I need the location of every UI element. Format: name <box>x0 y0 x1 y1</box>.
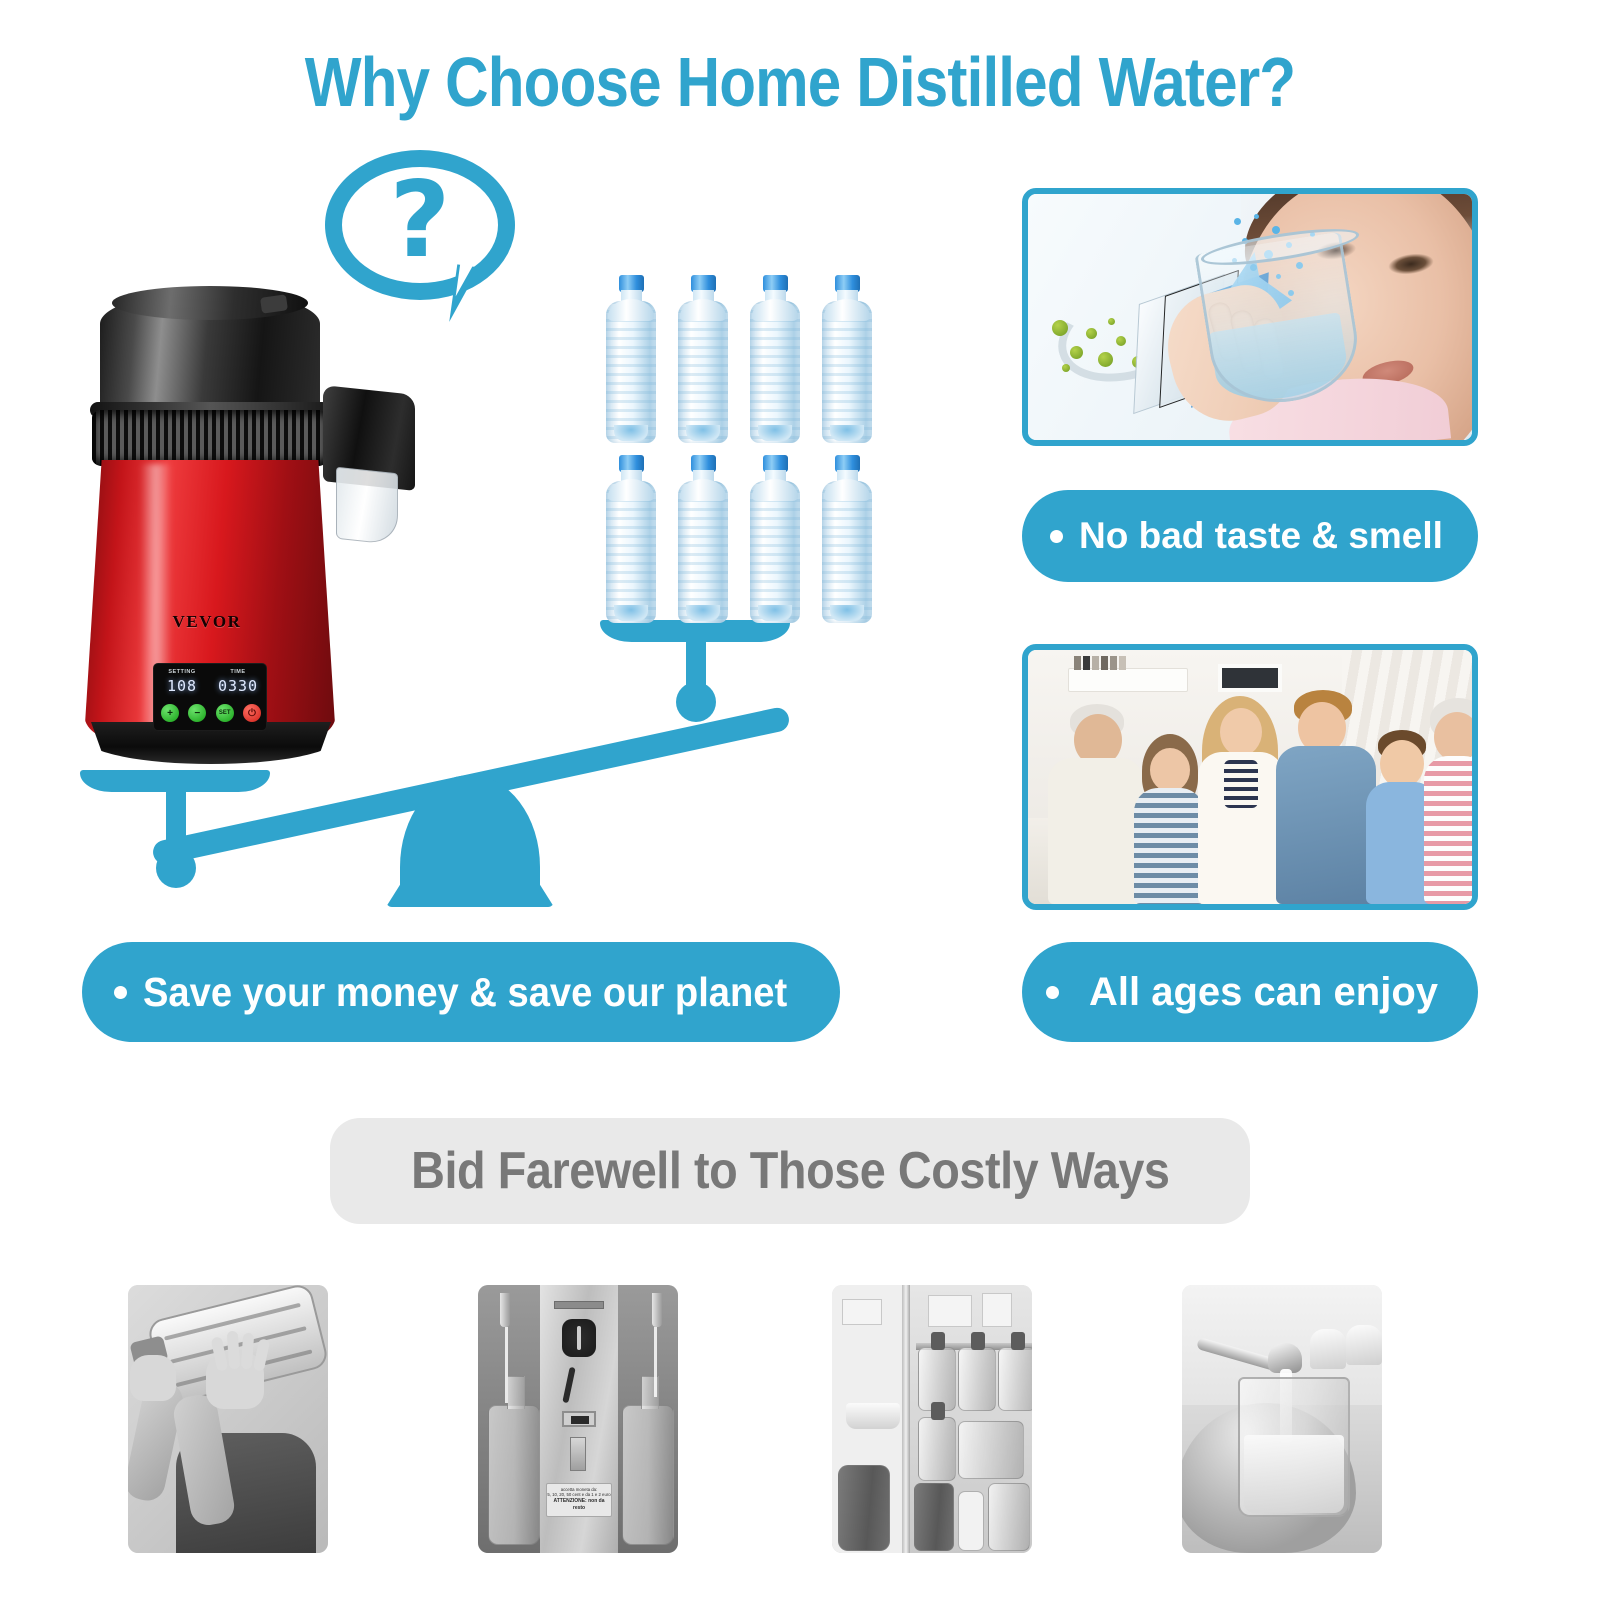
bullet-dot-icon <box>1046 986 1059 999</box>
question-mark-glyph: ? <box>325 168 515 273</box>
benefit-pill-ages: All ages can enjoy <box>1022 942 1478 1042</box>
photo-family-on-sofa <box>1022 644 1478 910</box>
family-member-mother <box>1194 696 1286 904</box>
seesaw-fulcrum-foot <box>386 875 554 907</box>
bottle-row-top <box>600 275 880 445</box>
water-bottle <box>816 455 878 623</box>
water-bottle <box>672 275 734 443</box>
family-member-grandfather <box>1048 704 1144 904</box>
family-member-father <box>1276 690 1376 904</box>
distiller-vent-grille <box>92 410 328 466</box>
bottle-row-bottom <box>600 455 880 625</box>
water-bottle <box>600 275 662 443</box>
bullet-dot-icon <box>114 986 127 999</box>
seesaw-right-knob <box>676 682 716 722</box>
costly-ways-gallery: accetta moneta da: 5, 10, 20, 50 cent e … <box>0 1285 1600 1555</box>
bullet-dot-icon <box>1050 530 1063 543</box>
page-title: Why Choose Home Distilled Water? <box>112 42 1488 122</box>
seesaw-left-pan <box>80 770 270 792</box>
water-bottle <box>600 455 662 623</box>
costly-ways-banner-text: Bid Farewell to Those Costly Ways <box>411 1141 1169 1201</box>
balance-seesaw-icon <box>80 620 860 920</box>
benefit-pill-taste: No bad taste & smell <box>1022 490 1478 582</box>
gallery-photo-water-vending-machine: accetta moneta da: 5, 10, 20, 50 cent e … <box>478 1285 678 1553</box>
notice-line-3: ATTENZIONE: non da resto <box>547 1498 611 1512</box>
benefit-label-money: Save your money & save our planet <box>143 969 787 1016</box>
costly-ways-banner: Bid Farewell to Those Costly Ways <box>330 1118 1250 1224</box>
bottled-water-group <box>600 275 880 630</box>
infographic-root: Why Choose Home Distilled Water? ? VEVOR… <box>0 0 1600 1600</box>
water-bottle <box>744 455 806 623</box>
family-member-grandmother <box>1424 698 1478 904</box>
water-bottle <box>672 455 734 623</box>
benefit-pill-money: Save your money & save our planet <box>82 942 840 1042</box>
gallery-photo-filter-pitcher <box>1182 1285 1382 1553</box>
water-bottle <box>744 275 806 443</box>
seesaw-left-knob <box>156 848 196 888</box>
vending-machine-notice: accetta moneta da: 5, 10, 20, 50 cent e … <box>546 1483 612 1517</box>
gallery-photo-jug-storage <box>832 1285 1032 1553</box>
gallery-photo-jug-lifting <box>128 1285 328 1553</box>
photo-filtered-water-drinking <box>1022 188 1478 446</box>
benefit-label-taste: No bad taste & smell <box>1079 515 1443 557</box>
water-bottle <box>816 275 878 443</box>
benefit-label-ages: All ages can enjoy <box>1089 970 1438 1015</box>
distiller-spout-nozzle <box>336 467 398 546</box>
